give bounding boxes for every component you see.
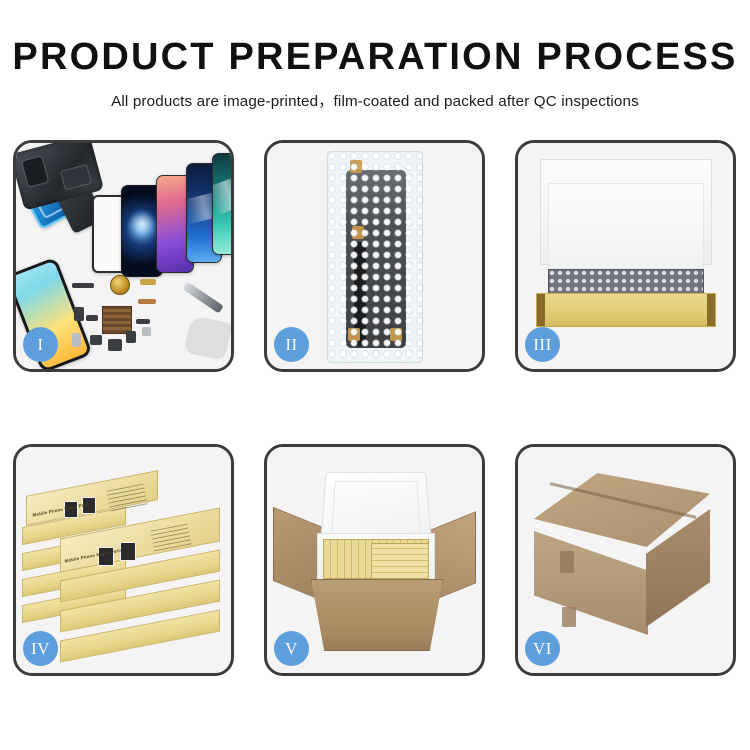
bubble-wrap-layer xyxy=(548,269,704,295)
page-subtitle: All products are image-printed，film-coat… xyxy=(0,89,750,111)
step-badge-3: III xyxy=(525,327,560,362)
carton-tape-lower xyxy=(562,607,576,627)
step-badge-4: IV xyxy=(23,631,58,666)
page-title: PRODUCT PREPARATION PROCESS xyxy=(0,38,750,78)
product-preparation-process-infographic: PRODUCT PREPARATION PROCESS All products… xyxy=(0,0,750,750)
process-step-panel-2: II xyxy=(264,140,485,372)
step-badge-2: II xyxy=(274,327,309,362)
spare-part-screw xyxy=(142,327,151,336)
stacked-boxes: Mobile Phone Spare Parts Mobile Phone Sp… xyxy=(22,465,226,661)
process-step-panel-5: V xyxy=(264,444,485,676)
bubble-film-texture xyxy=(328,152,422,362)
bubble-wrap-bag xyxy=(327,151,423,363)
spare-part-camera xyxy=(74,307,84,321)
foam-sheet xyxy=(548,183,704,269)
step-badge-1: I xyxy=(23,327,58,362)
spare-part-chip xyxy=(72,283,94,288)
carton-tape-upper xyxy=(560,551,574,573)
speaker-coil-part xyxy=(110,275,130,295)
process-step-panel-6: VI xyxy=(515,444,736,676)
yellow-boxes-row-2 xyxy=(371,543,429,579)
header: PRODUCT PREPARATION PROCESS All products… xyxy=(0,0,750,111)
phone-display-teal xyxy=(212,153,234,255)
yellow-box-base xyxy=(536,293,716,327)
spare-part-vibrator xyxy=(126,331,136,343)
process-step-panel-1: I xyxy=(13,140,234,372)
spare-part-connector xyxy=(140,279,156,285)
process-step-panel-4: Mobile Phone Spare Parts Mobile Phone Sp… xyxy=(13,444,234,676)
carton-front-face xyxy=(534,531,648,635)
process-steps-grid: I II xyxy=(13,140,737,676)
spare-part-sensor xyxy=(86,315,98,321)
process-step-panel-3: III xyxy=(515,140,736,372)
spare-part-tray xyxy=(72,333,81,347)
spare-part-speaker xyxy=(108,339,122,351)
step-badge-5: V xyxy=(274,631,309,666)
step-badge-6: VI xyxy=(525,631,560,666)
carton-body-open xyxy=(311,579,443,651)
spare-part-antenna xyxy=(136,319,150,324)
logic-board-part xyxy=(102,306,132,334)
spare-part-button xyxy=(90,335,102,345)
spare-part-flex xyxy=(138,299,156,304)
